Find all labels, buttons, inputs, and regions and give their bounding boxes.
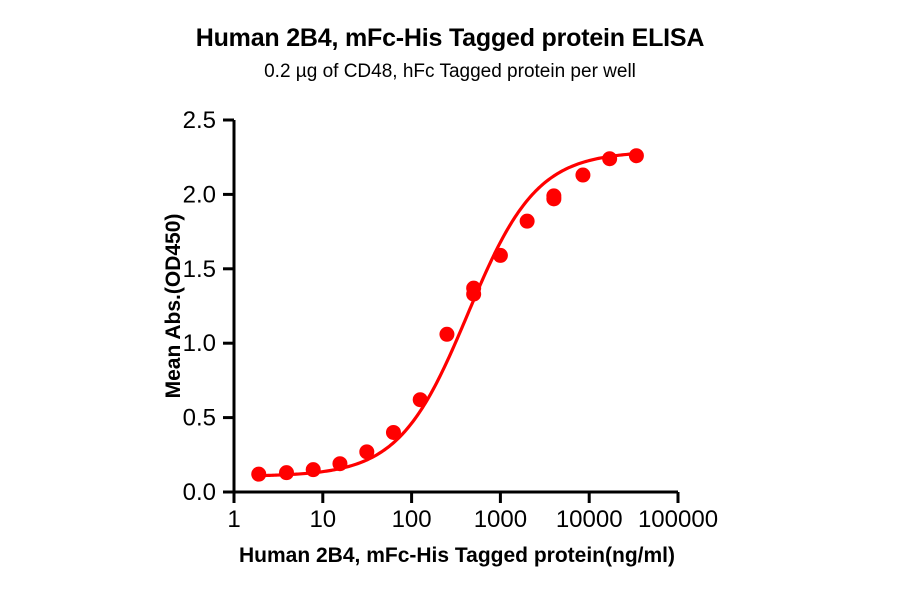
- y-axis-title: Mean Abs.(OD450): [162, 214, 185, 399]
- data-point-marker: [439, 327, 454, 342]
- x-axis-tick-labels: 110100100010000100000: [227, 506, 718, 533]
- y-tick-label: 0.5: [183, 405, 216, 432]
- y-tick-label: 2.0: [183, 181, 216, 208]
- x-tick-label: 10: [309, 506, 336, 533]
- y-tick-label: 0.0: [183, 479, 216, 506]
- data-point-marker: [602, 151, 617, 166]
- data-point-marker: [546, 188, 561, 203]
- data-point-marker: [306, 462, 321, 477]
- x-tick-label: 1: [227, 506, 240, 533]
- axis-frame: [234, 120, 678, 492]
- data-point-marker: [575, 168, 590, 183]
- x-axis-title: Human 2B4, mFc-His Tagged protein(ng/ml): [239, 544, 675, 567]
- data-point-marker: [386, 425, 401, 440]
- x-tick-label: 1000: [474, 506, 527, 533]
- x-tick-label: 100000: [638, 506, 718, 533]
- data-point-marker: [493, 248, 508, 263]
- y-axis-tick-labels: 0.00.51.01.52.02.5: [183, 107, 216, 506]
- data-point-marker: [279, 465, 294, 480]
- y-axis-ticks: [223, 120, 234, 492]
- data-point-marker: [520, 214, 535, 229]
- y-tick-label: 1.0: [183, 330, 216, 357]
- x-axis-ticks: [234, 492, 678, 503]
- data-point-marker: [359, 444, 374, 459]
- x-tick-label: 100: [392, 506, 432, 533]
- fit-curve: [259, 154, 637, 476]
- data-point-marker: [413, 392, 428, 407]
- data-point-marker: [251, 467, 266, 482]
- x-tick-label: 10000: [556, 506, 623, 533]
- data-point-marker: [332, 456, 347, 471]
- y-tick-label: 2.5: [183, 107, 216, 134]
- data-point-marker: [466, 287, 481, 302]
- y-tick-label: 1.5: [183, 256, 216, 283]
- data-point-markers: [251, 148, 644, 481]
- elisa-chart-figure: Human 2B4, mFc-His Tagged protein ELISA …: [0, 0, 900, 594]
- chart-plot-area: 110100100010000100000 0.00.51.01.52.02.5…: [0, 0, 900, 594]
- data-point-marker: [629, 148, 644, 163]
